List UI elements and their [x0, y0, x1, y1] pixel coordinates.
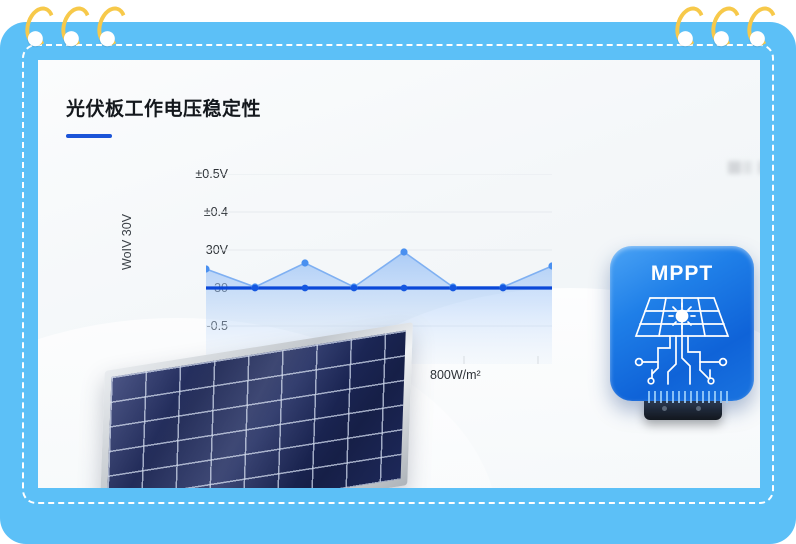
title-underline-accent [66, 134, 112, 138]
x-axis-tick-label: 800W/m² [430, 368, 481, 382]
watermark-top-right [728, 161, 760, 177]
mppt-controller-image: MPPT [604, 246, 760, 426]
page-title: 光伏板工作电压稳定性 [66, 94, 261, 121]
solar-panel-circuit-icon [628, 292, 736, 395]
content-card: 光伏板工作电压稳定性 WoIV 30V ±0.5V ±0.4 30V 30 -0… [38, 60, 760, 488]
stand-screw-icon [662, 406, 667, 411]
stand-screw-icon [696, 406, 701, 411]
mppt-label: MPPT [610, 262, 754, 286]
mppt-body: MPPT [610, 246, 754, 401]
heading-block: 光伏板工作电压稳定性 [66, 94, 261, 138]
y-axis-title: WoIV 30V [120, 214, 134, 270]
